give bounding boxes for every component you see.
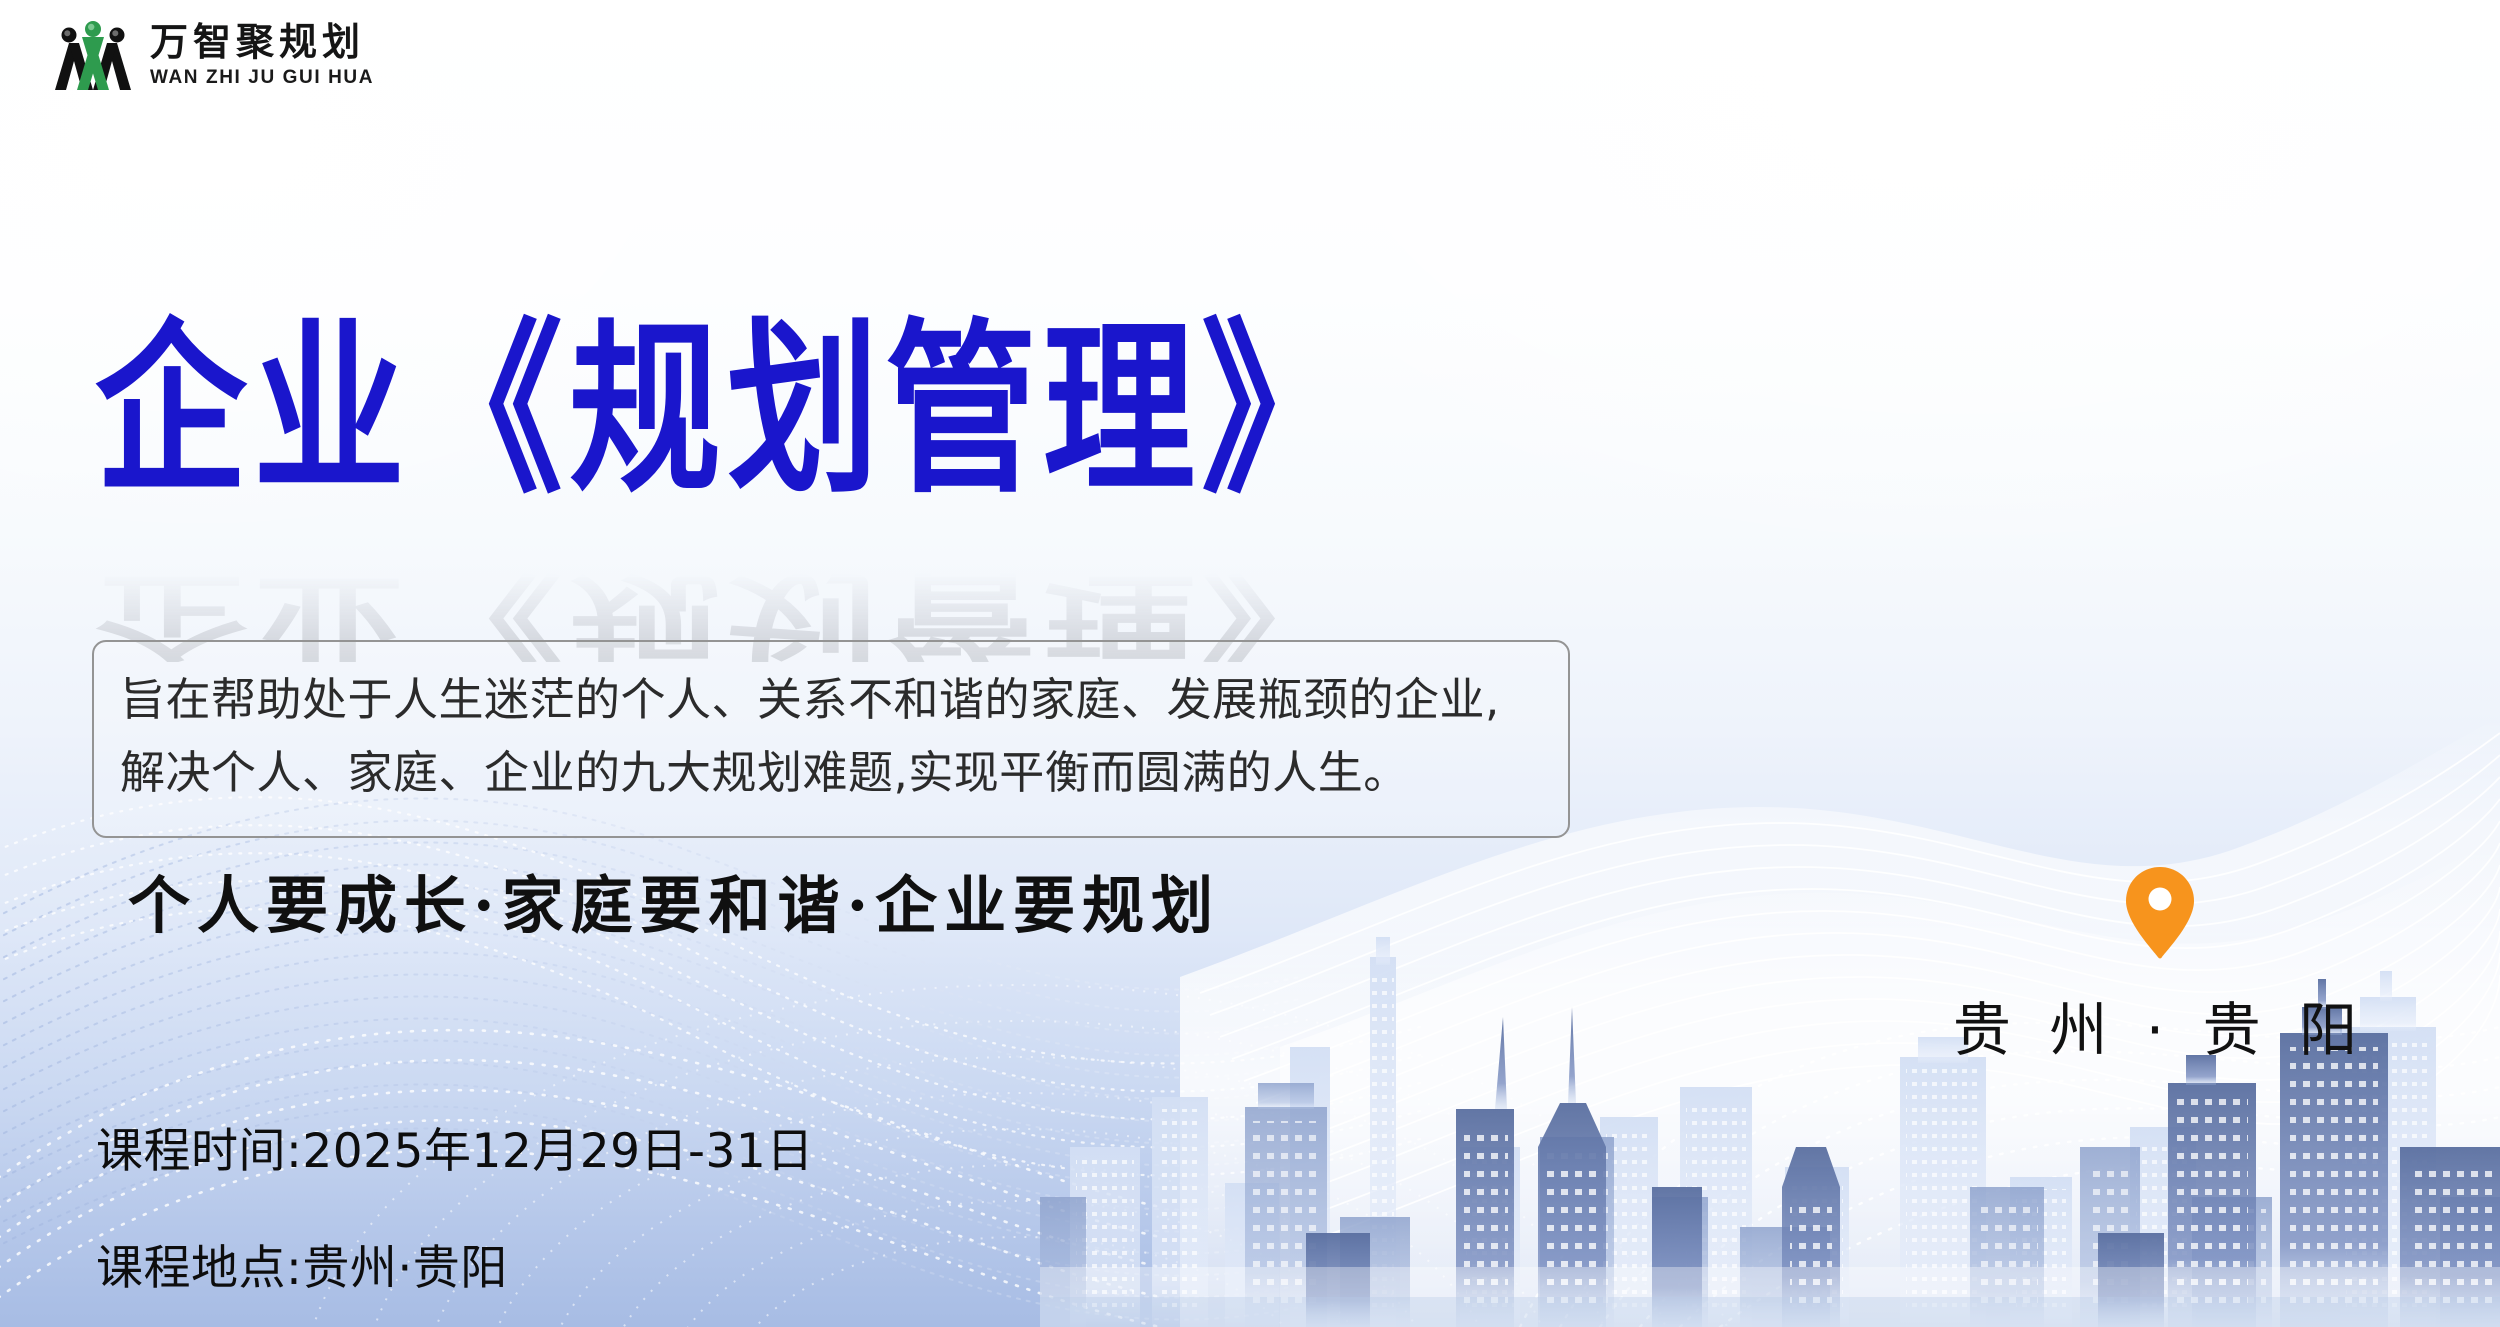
page-title: 企业《规划管理》 <box>95 318 1615 503</box>
description-line-2: 解决个人、家庭、企业的九大规划难题,实现平衡而圆满的人生。 <box>120 737 1542 810</box>
location-label: 贵 州 · 贵 阳 <box>1953 983 2367 1067</box>
slogan-text: 个人要成长·家庭要和谐·企业要规划 <box>128 855 1220 945</box>
description-box: 旨在帮助处于人生迷茫的个人、关系不和谐的家庭、发展瓶颈的企业, 解决个人、家庭、… <box>92 640 1570 838</box>
brand-logo: 万智聚规划 WAN ZHI JU GUI HUA <box>52 18 374 92</box>
description-line-1: 旨在帮助处于人生迷茫的个人、关系不和谐的家庭、发展瓶颈的企业, <box>120 664 1542 737</box>
course-info: 课程时间:2025年12月29日-31日 课程地点:贵州·贵阳 <box>96 1112 814 1298</box>
course-time: 课程时间:2025年12月29日-31日 <box>96 1112 814 1181</box>
course-place: 课程地点:贵州·贵阳 <box>96 1229 814 1298</box>
brand-wordmark: 万智聚规划 WAN ZHI JU GUI HUA <box>150 23 374 87</box>
map-pin-icon <box>2124 865 2196 961</box>
three-people-logo-icon <box>52 18 134 92</box>
location-badge: 贵 州 · 贵 阳 <box>1950 865 2370 1067</box>
poster-canvas: 万智聚规划 WAN ZHI JU GUI HUA 企业《规划管理》 企业《规划管… <box>0 0 2500 1327</box>
brand-name-cn: 万智聚规划 <box>150 23 374 61</box>
brand-name-en: WAN ZHI JU GUI HUA <box>150 68 374 87</box>
